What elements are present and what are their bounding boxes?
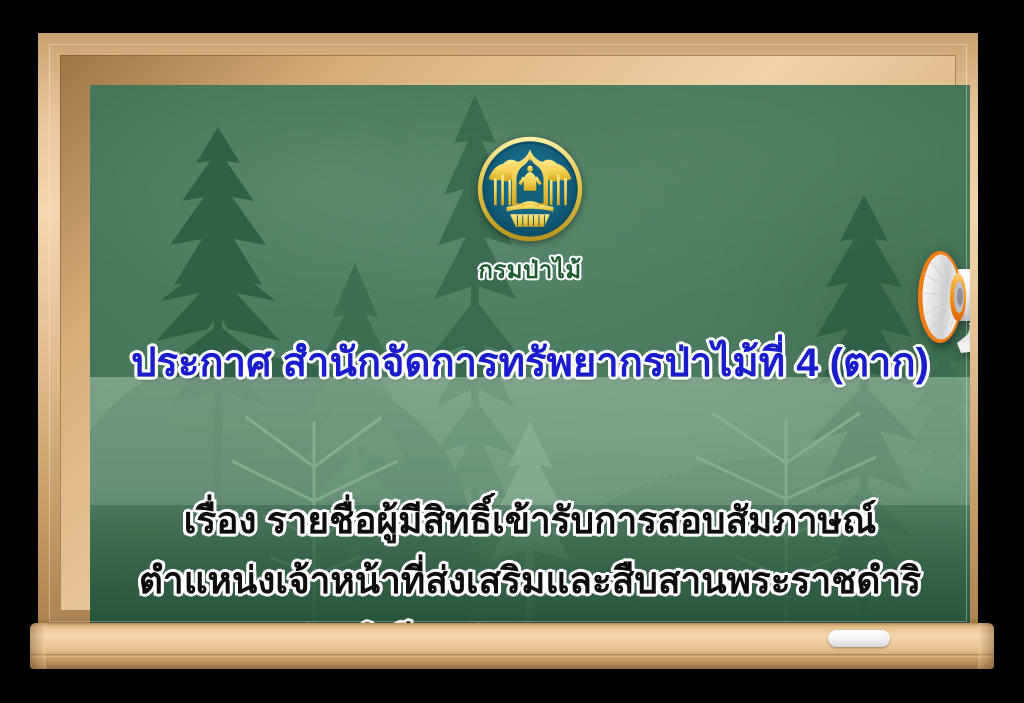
body-line-2: ตำแหน่งเจ้าหน้าที่ส่งเสริมและสืบสานพระรา… bbox=[90, 551, 970, 611]
body-line-1: เรื่อง รายชื่อผู้มีสิทธิ์เข้ารับการสอบสั… bbox=[90, 491, 970, 551]
department-logo: กรมป่าไม้ bbox=[400, 135, 660, 289]
chalkboard-surface: กรมป่าไม้ bbox=[90, 85, 970, 625]
chalk-piece-icon bbox=[828, 630, 890, 647]
ledge-cap-left bbox=[30, 623, 46, 669]
logo-caption: กรมป่าไม้ bbox=[400, 250, 660, 289]
chalkboard-frame: กรมป่าไม้ bbox=[38, 33, 978, 633]
page-title: ประกาศ สำนักจัดการทรัพยากรป่าไม้ที่ 4 (ต… bbox=[90, 343, 970, 383]
frame-inner-bevel: กรมป่าไม้ bbox=[60, 55, 956, 611]
royal-forest-department-seal-icon bbox=[476, 135, 584, 243]
ledge-cap-right bbox=[978, 623, 994, 669]
poster-stage: กรมป่าไม้ bbox=[0, 0, 1024, 703]
announcement-body: เรื่อง รายชื่อผู้มีสิทธิ์เข้ารับการสอบสั… bbox=[90, 491, 970, 625]
